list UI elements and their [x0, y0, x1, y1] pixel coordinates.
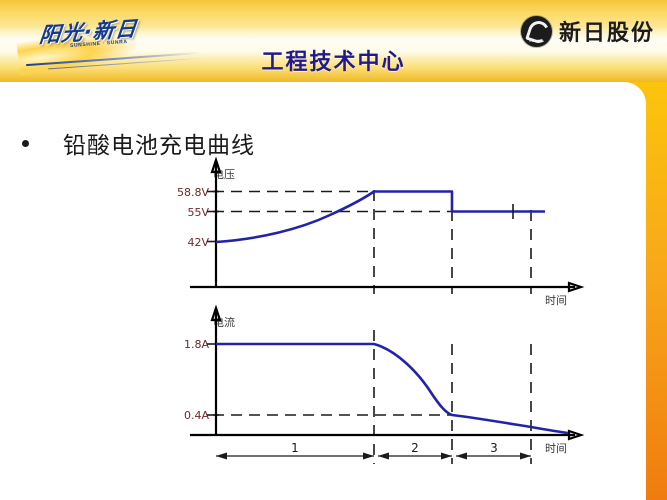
charts-canvas: 电压 58.8V 55V 42V	[0, 82, 646, 500]
phase-3-arrow-left	[456, 453, 467, 460]
content-panel: 铅酸电池充电曲线 电压 58.8V 55V 42V	[0, 82, 646, 500]
phase-3-arrow-right	[520, 453, 531, 460]
slide-header: 阳光·新日 SUNSHINE · SUNRA 工程技术中心 SUNRA 新日股份	[0, 0, 667, 82]
current-tick-04: 0.4A	[184, 409, 209, 422]
company-emblem-icon: SUNRA	[521, 16, 552, 47]
voltage-x-axis-label: 时间	[545, 294, 567, 307]
voltage-curve	[216, 192, 545, 243]
company-name-label: 新日股份	[559, 15, 655, 47]
phase-1-arrow-left	[216, 453, 227, 460]
slide-root: 铅酸电池充电曲线 电压 58.8V 55V 42V	[0, 0, 667, 500]
slide-body-frame: 铅酸电池充电曲线 电压 58.8V 55V 42V	[0, 82, 667, 500]
voltage-tick-55: 55V	[187, 206, 209, 219]
current-chart: 电流 1.8A 0.4A 时间	[184, 308, 581, 464]
phase-3-label: 3	[490, 441, 498, 455]
page-title: 工程技术中心	[0, 44, 667, 76]
phase-2-label: 2	[411, 441, 419, 455]
voltage-tick-42: 42V	[187, 236, 209, 249]
current-curve	[216, 344, 568, 433]
current-x-axis-label: 时间	[545, 442, 567, 455]
phase-1-arrow-right	[363, 453, 374, 460]
company-emblem-sublabel: SUNRA	[521, 38, 552, 43]
current-tick-18: 1.8A	[184, 338, 209, 351]
phase-2-arrow-right	[441, 453, 452, 460]
voltage-chart: 电压 58.8V 55V 42V	[177, 160, 581, 307]
phase-1-label: 1	[291, 441, 299, 455]
voltage-tick-588: 58.8V	[177, 186, 209, 199]
brand-logo-right: SUNRA 新日股份	[521, 14, 655, 48]
phase-2-arrow-left	[378, 453, 389, 460]
